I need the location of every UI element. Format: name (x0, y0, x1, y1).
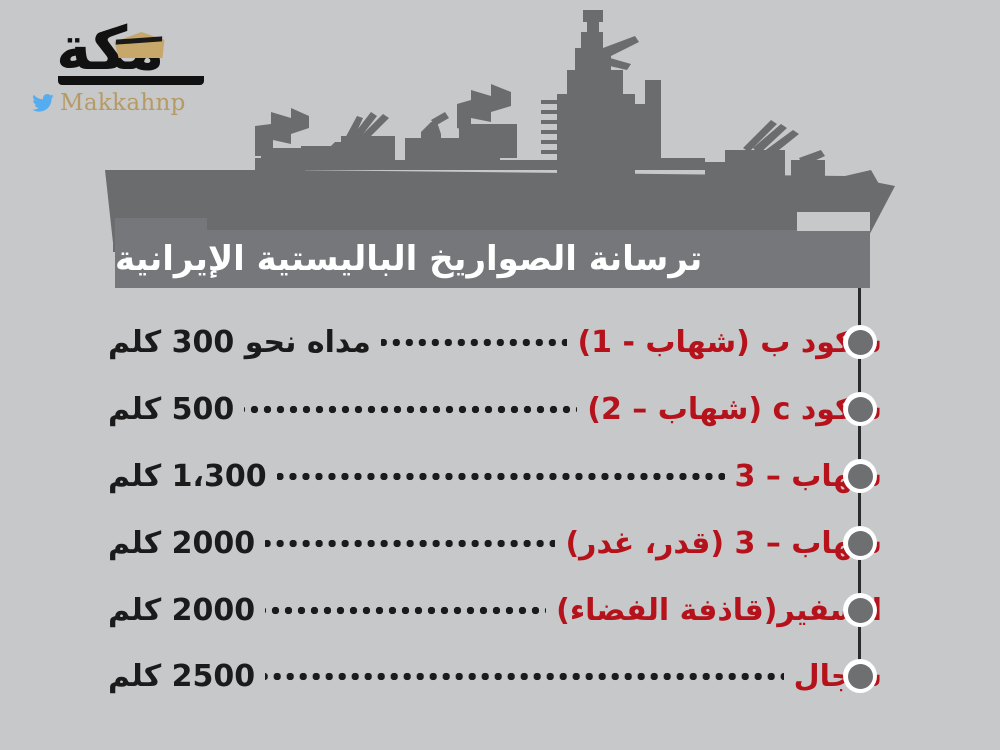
timeline-dot (843, 593, 877, 627)
timeline-dot (843, 526, 877, 560)
missile-name: شهاب – 3 (قدر، غدر) (565, 526, 890, 561)
missile-range: مداه نحو 300 كلم (108, 325, 371, 360)
timeline-dot (843, 392, 877, 426)
leader-dots (244, 394, 577, 424)
leader-dots (265, 661, 783, 691)
missile-range: 1،300 كلم (108, 459, 267, 494)
missile-range: 500 كلم (108, 392, 234, 427)
leader-dots (265, 528, 555, 558)
missile-range: 2000 كلم (108, 593, 255, 628)
list-item: شهاب – 3 (قدر، غدر) 2000 كلم (108, 519, 890, 567)
leader-dots (381, 327, 568, 357)
timeline-dot (843, 459, 877, 493)
timeline-dot (843, 325, 877, 359)
missile-list: سكود ب (شهاب - 1) مداه نحو 300 كلم سكود … (0, 0, 1000, 750)
list-item: سكود ب (شهاب - 1) مداه نحو 300 كلم (108, 318, 890, 366)
list-item: شهاب – 3 1،300 كلم (108, 452, 890, 500)
list-item: السفير(قاذفة الفضاء) 2000 كلم (108, 586, 890, 634)
missile-range: 2500 كلم (108, 659, 255, 694)
infographic-canvas: مكة Makkahnp (0, 0, 1000, 750)
missile-name: السفير(قاذفة الفضاء) (556, 593, 890, 628)
leader-dots (265, 595, 546, 625)
list-item: سجال 2500 كلم (108, 652, 890, 700)
missile-range: 2000 كلم (108, 526, 255, 561)
banner-notch-right (797, 212, 870, 231)
timeline-dot (843, 659, 877, 693)
list-item: سكود c (شهاب – 2) 500 كلم (108, 385, 890, 433)
leader-dots (277, 461, 725, 491)
